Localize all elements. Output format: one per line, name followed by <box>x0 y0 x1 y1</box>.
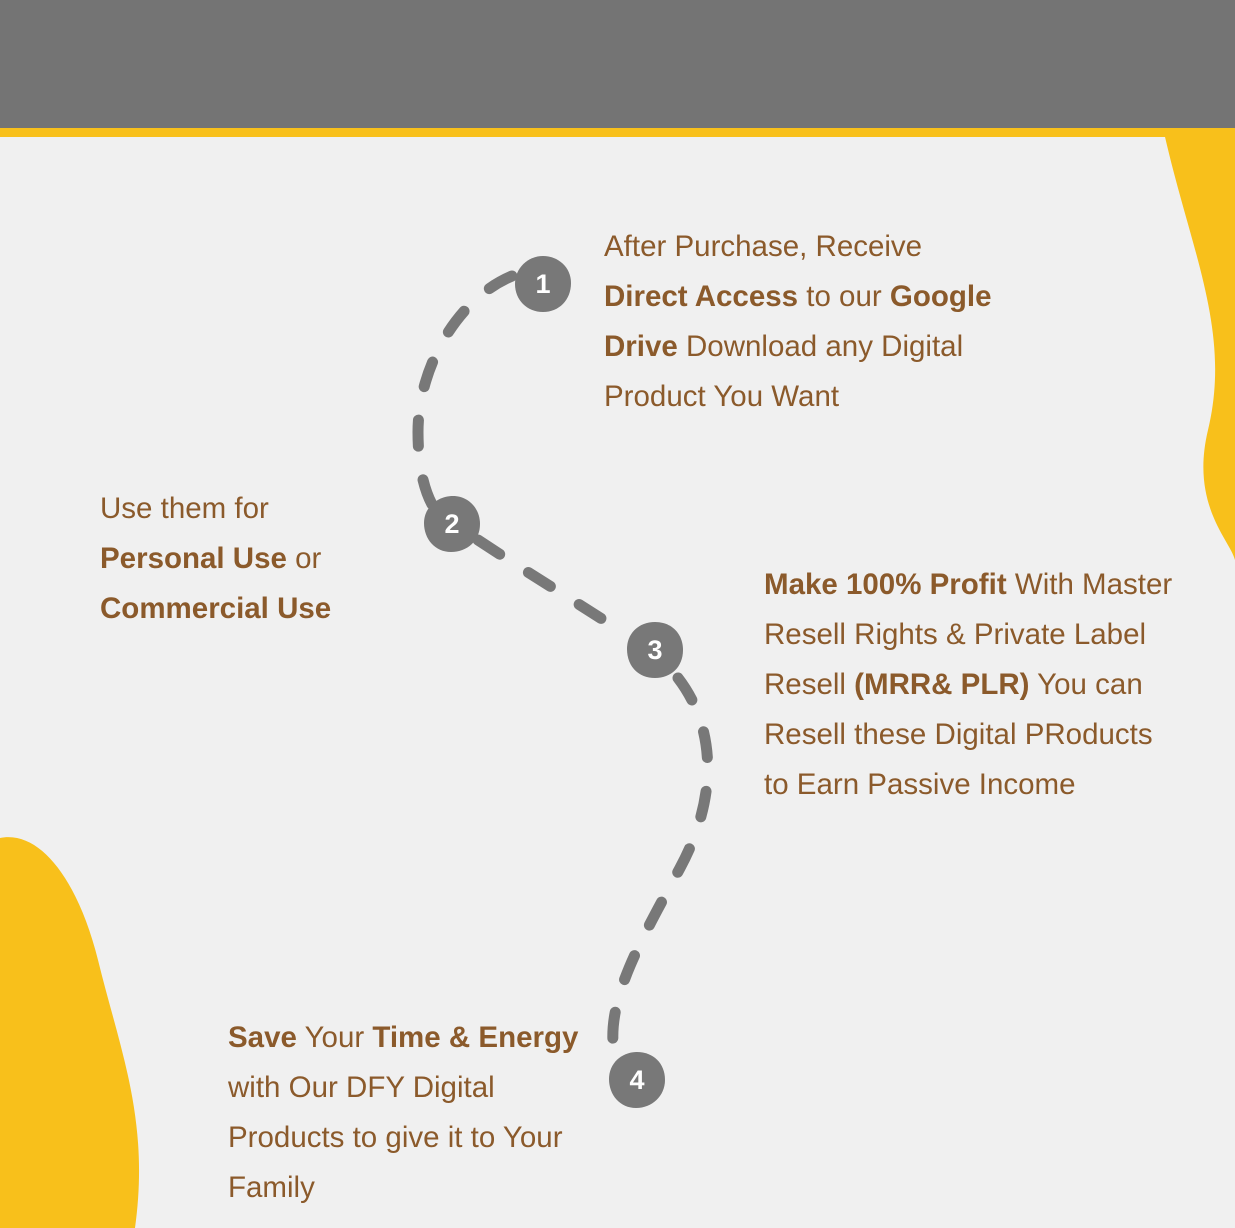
step-badge-1: 1 <box>514 255 572 313</box>
step-1-description: After Purchase, Receive Direct Access to… <box>604 222 1004 422</box>
path-step2-to-step3 <box>478 540 622 632</box>
step-2-seg-3: or <box>287 542 321 575</box>
step-3-description: Make 100% Profit With Master Resell Righ… <box>764 560 1176 810</box>
step-3-seg-3: (MRR& PLR) <box>854 668 1029 701</box>
step-badge-2-label: 2 <box>423 495 481 553</box>
step-badge-3: 3 <box>626 621 684 679</box>
step-2-seg-1: Use them for <box>100 492 269 525</box>
path-step3-to-step4 <box>613 678 708 1052</box>
step-2-seg-2: Personal Use <box>100 542 287 575</box>
step-1-seg-3: to our <box>798 280 890 313</box>
step-2-description: Use them for Personal Use or Commercial … <box>100 484 378 634</box>
step-1-seg-2: Direct Access <box>604 280 798 313</box>
step-1-seg-1: After Purchase, Receive <box>604 230 922 263</box>
step-4-seg-2: Your <box>297 1021 372 1054</box>
infographic-canvas: HOW IT WORKS ? 1 After Purchase, Receive… <box>0 0 1235 1228</box>
step-4-seg-1: Save <box>228 1021 297 1054</box>
step-badge-3-label: 3 <box>626 621 684 679</box>
step-2-seg-4: Commercial Use <box>100 592 331 625</box>
step-4-seg-3: Time & Energy <box>372 1021 578 1054</box>
step-badge-4-label: 4 <box>608 1051 666 1109</box>
step-badge-1-label: 1 <box>514 255 572 313</box>
step-3-seg-1: Make 100% Profit <box>764 568 1007 601</box>
step-4-description: Save Your Time & Energy with Our DFY Dig… <box>228 1013 608 1213</box>
step-badge-4: 4 <box>608 1051 666 1109</box>
step-badge-2: 2 <box>423 495 481 553</box>
path-step1-to-step2 <box>418 276 512 516</box>
header-bar <box>0 0 1235 128</box>
step-4-seg-4: with Our DFY Digital Products to give it… <box>228 1071 563 1204</box>
header-accent-stripe <box>0 128 1235 137</box>
